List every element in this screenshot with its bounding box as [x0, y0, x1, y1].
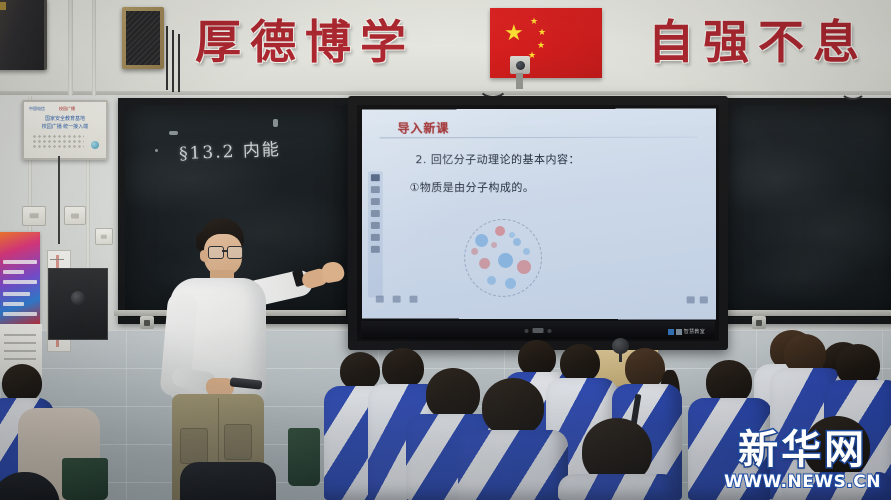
slide-toolbar-left[interactable] — [368, 171, 383, 297]
chinese-national-flag: ★ ★ ★ ★ ★ — [490, 8, 602, 78]
conduit-pipe-vertical-4 — [86, 156, 90, 274]
wall-banner-left: 厚德博学 — [195, 6, 415, 72]
slide-title-rule — [380, 137, 698, 139]
select-icon[interactable] — [371, 222, 380, 229]
intercom-brand-right: 校园广播 — [59, 106, 75, 112]
more-icon[interactable] — [371, 246, 380, 253]
intercom-cable — [58, 156, 60, 244]
flag-small-star-1: ★ — [530, 17, 538, 26]
wall-intercom-panel: 中国电信 校园广播 国家安全教育基地 校园广播 统一接入端 — [22, 100, 108, 160]
speaker-grille — [126, 11, 160, 65]
teacher-ear — [200, 250, 208, 262]
flag-big-star: ★ — [504, 22, 524, 44]
eraser-icon[interactable] — [371, 186, 380, 193]
screen-glare — [362, 108, 716, 319]
flag-small-star-3: ★ — [537, 41, 545, 50]
wall-shading — [0, 300, 891, 500]
presentation-slide[interactable]: 导入新课 2. 回忆分子动理论的基本内容： ①物质是由分子构成的。 — [362, 108, 716, 319]
speaker-wire-3 — [178, 34, 180, 92]
slide-body-line-1: 2. 回忆分子动理论的基本内容： — [415, 151, 580, 167]
chalk-smudges-right — [723, 105, 891, 317]
flag-small-star-2: ★ — [538, 28, 546, 37]
undo-icon[interactable] — [371, 234, 380, 241]
blackboard-chalk-text: §13.2 内能 — [179, 135, 282, 164]
wall-speaker-right — [122, 7, 164, 69]
conduit-pipe-vertical-2 — [92, 0, 96, 96]
security-camera-icon — [510, 56, 530, 74]
speaker-wire-1 — [166, 26, 168, 90]
slide-title: 导入新课 — [398, 119, 450, 136]
speaker-wire-2 — [172, 30, 174, 92]
wall-socket-1 — [22, 206, 46, 226]
intercom-logos: 中国电信 校园广播 — [29, 105, 101, 113]
intercom-title-line2: 校园广播 统一接入端 — [24, 123, 106, 131]
camera-mount — [516, 73, 523, 89]
text-icon[interactable] — [371, 210, 380, 217]
shape-icon[interactable] — [371, 198, 380, 205]
teacher-glasses — [208, 246, 244, 257]
slide-body-line-2: ①物质是由分子构成的。 — [410, 179, 535, 195]
intercom-title-line1: 国家安全教育基地 — [24, 115, 106, 123]
pen-icon[interactable] — [371, 174, 380, 181]
wall-speaker-left — [0, 0, 47, 70]
wall-socket-3 — [95, 228, 113, 245]
wall-socket-2 — [64, 206, 86, 225]
classroom-photo: 厚德博学 自强不息 ★ ★ ★ ★ ★ 中国电信 校园广播 国家安全教育基地 校… — [0, 0, 891, 500]
wall-banner-right: 自强不息 — [648, 6, 868, 72]
blackboard-right — [716, 98, 891, 324]
intercom-led-icon — [91, 141, 99, 149]
intercom-grille — [32, 134, 84, 150]
intercom-brand-left: 中国电信 — [29, 106, 45, 112]
conduit-pipe-vertical-1 — [68, 0, 73, 96]
molecular-particles-diagram — [464, 219, 542, 297]
